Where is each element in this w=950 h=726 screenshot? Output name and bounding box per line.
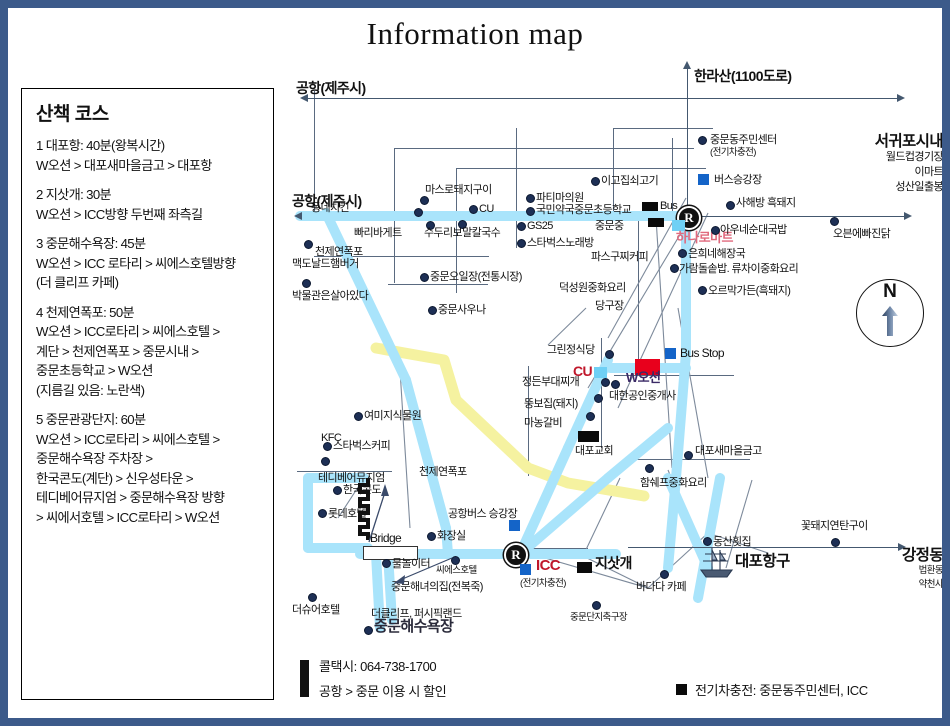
place-marker[interactable] [660,570,669,579]
axis-line-top [308,98,688,99]
place-marker[interactable] [323,442,332,451]
place-marker[interactable] [605,350,614,359]
gangjeong-main: 강정동 [828,550,942,562]
street-line [388,284,488,285]
arrow-down-left-icon [390,554,456,586]
place-marker[interactable] [726,201,735,210]
place-label: 중문해수욕장 [374,621,453,633]
seogwipo-sub: 이마트 [818,166,942,178]
gangjeong-sub: 약천사 [828,579,942,591]
course-line: 2 지삿개: 30분 [36,185,261,205]
place-label: 지삿개 [595,557,632,569]
place-marker[interactable] [414,208,423,217]
page-title: Information map [8,16,942,52]
place-marker[interactable] [698,286,707,295]
place-sublabel: (전기차충전) [520,578,566,590]
taxi-line: 콜택시: 064-738-1700 [319,656,446,675]
place-label: 사해방 흑돼지 [736,197,796,209]
axis-line-bottom-right [628,547,900,548]
axis-line-top-right [687,98,899,99]
place-label: W오션 [626,372,660,384]
gangjeong-sub: 법환동 [828,565,942,577]
page-frame: Information map 산책 코스 1 대포항: 40분(왕복시간) W… [0,0,950,726]
arrow-left-icon [294,212,302,220]
place-marker[interactable] [601,378,610,387]
place-label: 이고집쇠고기 [601,175,658,187]
seogwipo-sub: 월드컵경기장 [818,151,942,163]
course-line: W오션 > 대포새마을금고 > 대포항 [36,156,261,176]
course-line: > 씨에서호텔 > ICC로타리 > W오션 [36,508,261,528]
place-label: 박물관은살아있다 [292,290,368,302]
place-marker[interactable] [517,239,526,248]
legend-bar-icon [300,660,309,697]
compass-north-label: N [857,281,923,303]
street-line [394,148,395,283]
place-label: 대포새마을금고 [695,445,762,457]
place-label: 중문중 [595,220,624,232]
ev-legend-text: 전기차충전: 중문동주민센터, ICC [695,680,868,699]
place-label: 뚱보집(돼지) [524,398,578,410]
arrow-right-icon [904,212,912,220]
place-marker[interactable] [711,226,720,235]
course-line: (지름길 있음: 노란색) [36,381,261,401]
axis-line-right [698,216,906,217]
place-label: 파티마의원 [536,192,584,204]
place-label: 천제연폭포 [419,466,467,478]
place-label: 대한공인중개사 [609,390,676,402]
course-line: W오션 > ICC방향 두번째 좌측길 [36,205,261,225]
place-label: 아우네순대국밥 [720,224,787,236]
axis-line-vertical [687,68,688,218]
street-line [601,338,602,448]
street-line [638,221,639,366]
street-line [516,128,517,248]
direction-airport-top: 공항(제주시) [296,82,366,94]
place-marker[interactable] [428,306,437,315]
place-label: 스타벅스커피 [333,440,390,452]
place-marker[interactable] [509,520,520,531]
place-label: 대포항구 [735,556,790,568]
place-label: CU [479,203,494,215]
place-label: 당구장 [595,300,624,312]
course-line: 4 천제연폭포: 50분 [36,303,261,323]
place-marker[interactable] [642,202,658,211]
street-line [394,148,694,149]
place-marker[interactable] [648,218,664,227]
place-marker[interactable] [831,538,840,547]
place-label: 바다다 카페 [636,581,686,593]
course-line: W오션 > ICC 로타리 > 씨에스호텔방향 [36,254,261,274]
seogwipo-sub: 성산일출봉 [818,181,942,193]
place-marker[interactable] [594,367,607,378]
ship-icon [698,546,738,580]
course-line: 중문초등학교 > W오션 [36,361,261,381]
place-marker[interactable] [318,509,327,518]
walking-course-panel: 산책 코스 1 대포항: 40분(왕복시간) W오션 > 대포새마을금고 > 대… [21,88,274,700]
place-marker[interactable] [517,222,526,231]
panel-heading: 산책 코스 [36,99,261,126]
place-label: ICC [536,560,560,572]
place-marker[interactable] [577,562,592,573]
street-line [613,128,614,213]
place-label: 대포교회 [575,445,613,457]
course-line: W오션 > ICC로타리 > 씨에스호텔 > [36,430,261,450]
place-marker[interactable] [420,273,429,282]
place-label: 가람돌솥밥. 류차이중화요리 [679,263,798,275]
arrow-up-icon [683,61,691,69]
place-label: Bus Stop [680,347,724,359]
place-label: 정든부대찌개 [522,376,579,388]
place-marker[interactable] [354,412,363,421]
course-line: 테디베어뮤지엄 > 중문해수욕장 방향 [36,488,261,508]
place-label: 여미지식물원 [364,410,421,422]
course-line: 한국콘도(계단) > 신우성타운 > [36,469,261,489]
place-label: 중문사우나 [438,304,486,316]
place-label: 버스승강장 [714,174,762,186]
place-marker[interactable] [526,194,535,203]
place-marker[interactable] [526,207,535,216]
place-label: 파스구찌커피 [591,251,648,263]
place-label: 오르막가든(흑돼지) [708,285,790,297]
place-label: 빠리바게트 [354,227,402,239]
place-label: 스타벅스노래방 [527,237,594,249]
place-marker[interactable] [420,196,429,205]
course-line: W오션 > ICC로타리 > 씨에스호텔 > [36,322,261,342]
seogwipo-main: 서귀포시내 [818,136,942,148]
map-canvas: Information map 산책 코스 1 대포항: 40분(왕복시간) W… [8,8,942,718]
place-marker[interactable] [469,205,478,214]
place-label: 공항버스 승강장 [448,508,517,520]
course-line: (더 클리프 카페) [36,273,261,293]
place-label: 중문오일장(전통시장) [430,271,522,283]
legend-square-icon [676,684,687,695]
street-line [635,459,750,460]
north-arrow-icon [882,306,898,336]
place-marker[interactable] [678,249,687,258]
place-marker[interactable] [578,431,599,442]
course-item: 3 중문해수욕장: 45분 W오션 > ICC 로타리 > 씨에스호텔방향 (더… [36,234,261,293]
place-marker[interactable] [703,537,712,546]
course-line: 계단 > 천제연폭포 > 중문시내 > [36,342,261,362]
place-label: 더슈어호텔 [292,604,340,616]
place-marker[interactable] [302,279,311,288]
place-marker[interactable] [645,464,654,473]
arrow-right-icon [897,94,905,102]
place-marker[interactable] [698,136,707,145]
course-item: 1 대포항: 40분(왕복시간) W오션 > 대포새마을금고 > 대포항 [36,136,261,175]
place-marker[interactable] [308,593,317,602]
place-marker[interactable] [830,217,839,226]
course-line: 3 중문해수욕장: 45분 [36,234,261,254]
place-marker[interactable] [665,348,676,359]
course-line: 1 대포항: 40분(왕복시간) [36,136,261,156]
course-line: 5 중문관광단지: 60분 [36,410,261,430]
street-line [613,128,713,129]
street-line [456,168,706,169]
place-label: 꽃돼지연탄구이 [801,520,868,532]
place-label: 화장실 [437,530,466,542]
place-label: 중문단지축구장 [570,612,627,624]
place-label: 맥도날드햄버거 [292,258,359,270]
place-marker[interactable] [520,564,531,575]
place-marker[interactable] [592,601,601,610]
place-label: 덕성원중화요리 [559,282,626,294]
place-label: Bus [660,200,677,212]
place-marker[interactable] [698,174,709,185]
place-label: 그린정식당 [547,344,595,356]
place-marker[interactable] [321,457,330,466]
place-marker[interactable] [611,380,620,389]
place-label: 함쉐프중화요리 [640,477,707,489]
compass-rose: N [856,279,924,347]
direction-gangjeong: 강정동 법환동 약천사 [828,550,942,591]
place-marker[interactable] [304,240,313,249]
course-item: 5 중문관광단지: 60분 W오션 > ICC로타리 > 씨에스호텔 > 중문해… [36,410,261,527]
place-marker[interactable] [594,394,603,403]
taxi-line: 공항 > 중문 이용 시 할인 [319,681,446,700]
place-label: 중문동주민센터 [710,134,777,146]
place-label: 마스로돼지구이 [425,184,492,196]
course-line: 중문해수욕장 주차장 > [36,449,261,469]
stairs-icon [338,470,398,555]
place-label: 오븐에빠진닭 [833,228,890,240]
direction-hallasan: 한라산(1100도로) [694,70,792,82]
place-marker[interactable] [427,532,436,541]
course-item: 4 천제연폭포: 50분 W오션 > ICC로타리 > 씨에스호텔 > 계단 >… [36,303,261,401]
place-marker[interactable] [684,451,693,460]
course-item: 2 지삿개: 30분 W오션 > ICC방향 두번째 좌측길 [36,185,261,224]
place-marker[interactable] [586,412,595,421]
place-label: 천제연폭포 [315,246,363,258]
place-sublabel: (전기차충전) [710,147,756,159]
place-marker[interactable] [670,264,679,273]
place-label: 은희네해장국 [688,248,745,260]
place-label: GS25 [527,220,553,232]
direction-seogwipo: 서귀포시내 월드컵경기장 이마트 성산일출봉 [818,136,942,193]
place-label: 국민약국중문초등학교 [536,204,631,216]
taxi-legend: 콜택시: 064-738-1700 공항 > 중문 이용 시 할인 [300,656,446,700]
place-label: 수두리보말칼국수 [424,227,500,239]
place-label: 동네치킨 [311,202,349,214]
place-marker[interactable] [591,177,600,186]
place-marker[interactable] [364,626,373,635]
ev-charge-legend: 전기차충전: 중문동주민센터, ICC [676,680,868,699]
place-label: 마농갈비 [524,417,562,429]
